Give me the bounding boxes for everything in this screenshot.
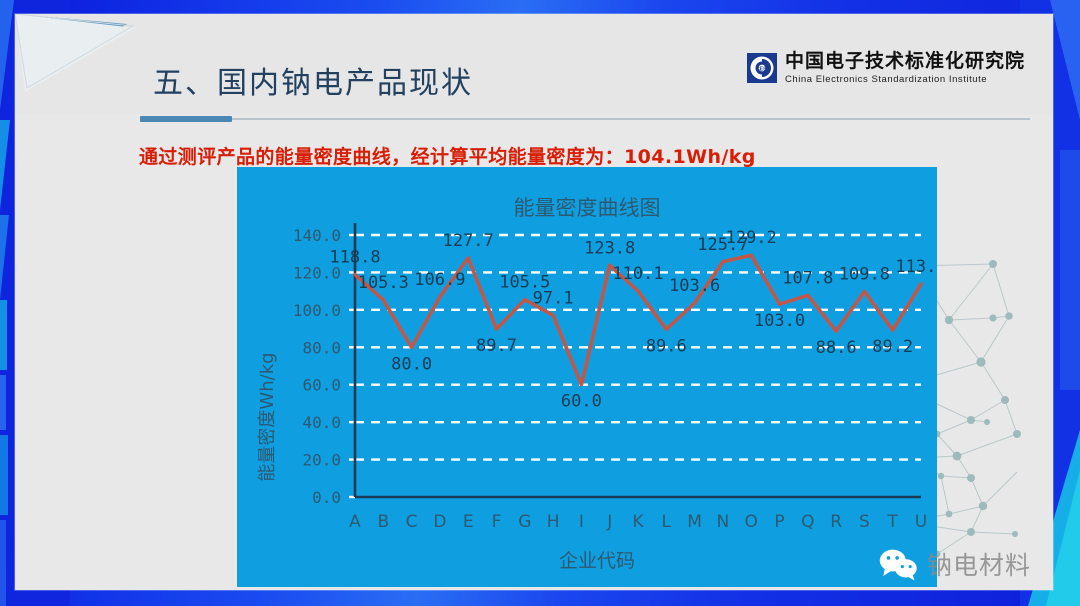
- header-rule: [140, 118, 1030, 120]
- wechat-watermark: 钠电材料: [878, 546, 1031, 582]
- chart-data-label: 109.8: [839, 265, 890, 285]
- chart-x-tick-label: D: [433, 512, 446, 532]
- chart-x-tick-label: U: [915, 512, 927, 532]
- corner-arrow-decoration: [15, 14, 135, 109]
- chart-data-label: 89.7: [476, 336, 517, 356]
- chart-y-tick-label: 0.0: [312, 488, 341, 507]
- chart-y-tick-label: 60.0: [302, 376, 341, 395]
- chart-data-label: 88.6: [816, 338, 857, 358]
- chart-y-tick-label: 80.0: [302, 338, 341, 357]
- cesi-circle-icon: CESI: [749, 55, 775, 81]
- svg-text:CESI: CESI: [756, 67, 768, 73]
- chart-x-tick-label: P: [774, 512, 784, 532]
- chart-x-tick-label: A: [349, 512, 361, 532]
- chart-x-tick-label: S: [859, 512, 870, 532]
- chart-data-label: 80.0: [391, 354, 432, 374]
- chart-x-tick-label: Q: [801, 512, 814, 532]
- chart-x-tick-labels: ABCDEFGHIJKLMNOPQRSTU: [349, 512, 927, 532]
- chart-x-tick-label: H: [547, 512, 560, 532]
- chart-x-tick-label: E: [463, 512, 474, 532]
- logo-name-en: China Electronics Standardization Instit…: [785, 75, 1025, 85]
- chart-data-label: 103.0: [754, 311, 805, 331]
- chart-data-label: 105.3: [358, 273, 409, 293]
- chart-data-label: 118.8: [329, 248, 380, 268]
- chart-x-axis-label: 企业代码: [559, 550, 635, 572]
- chart-y-axis-label: 能量密度Wh/kg: [257, 352, 278, 481]
- chart-data-label: 113.8: [895, 257, 937, 277]
- chart-data-label: 129.2: [726, 228, 777, 248]
- chart-data-label: 89.6: [646, 336, 687, 356]
- chart-y-tick-label: 100.0: [293, 301, 341, 320]
- chart-x-tick-label: M: [687, 512, 702, 532]
- institute-logo: CESI 中国电子技术标准化研究院 China Electronics Stan…: [747, 52, 1025, 85]
- chart-x-tick-label: G: [518, 512, 531, 532]
- chart-x-tick-label: R: [830, 512, 842, 532]
- chart-x-tick-label: K: [632, 512, 644, 532]
- chart-x-tick-label: J: [606, 512, 612, 532]
- chart-y-tick-label: 140.0: [293, 226, 341, 245]
- cesi-logo-icon: CESI: [747, 53, 777, 83]
- logo-name-cn: 中国电子技术标准化研究院: [785, 52, 1025, 71]
- chart-title: 能量密度曲线图: [514, 196, 661, 220]
- chart-y-tick-label: 20.0: [302, 451, 341, 470]
- chart-x-tick-label: C: [406, 512, 418, 532]
- chart-x-tick-label: F: [492, 512, 502, 532]
- chart-x-tick-label: N: [717, 512, 730, 532]
- chart-data-label: 97.1: [533, 288, 574, 308]
- chart-data-label: 127.7: [443, 231, 494, 251]
- chart-data-label: 107.8: [782, 268, 833, 288]
- header-rule-accent: [140, 116, 232, 122]
- chart-x-tick-label: L: [662, 512, 672, 532]
- subtitle-text: 通过测评产品的能量密度曲线，经计算平均能量密度为：104.1Wh/kg: [139, 142, 756, 169]
- wechat-icon: [878, 547, 918, 581]
- slide-card: 五、国内钠电产品现状 CESI 中国电子技术标准化研究院 China Elect…: [15, 14, 1053, 590]
- chart-data-label: 89.2: [872, 337, 913, 357]
- chart-data-label: 110.1: [612, 264, 663, 284]
- chart-x-tick-label: T: [887, 512, 899, 532]
- chart-data-label: 103.6: [669, 276, 720, 296]
- chart-data-label: 123.8: [584, 238, 635, 258]
- watermark-label: 钠电材料: [927, 546, 1031, 582]
- chart-data-label: 60.0: [561, 392, 602, 412]
- chart-y-tick-label: 40.0: [302, 413, 341, 432]
- chart-x-tick-label: O: [745, 512, 758, 532]
- page-title: 五、国内钠电产品现状: [153, 58, 473, 102]
- chart-x-tick-label: I: [579, 512, 584, 532]
- slide-root: 五、国内钠电产品现状 CESI 中国电子技术标准化研究院 China Elect…: [0, 0, 1080, 606]
- chart-x-tick-label: B: [377, 512, 389, 532]
- energy-density-chart: 能量密度曲线图 0.020.040.060.080.0100.0120.0140…: [237, 167, 937, 587]
- chart-data-label: 106.9: [414, 270, 465, 290]
- energy-density-chart-svg: 能量密度曲线图 0.020.040.060.080.0100.0120.0140…: [237, 167, 937, 587]
